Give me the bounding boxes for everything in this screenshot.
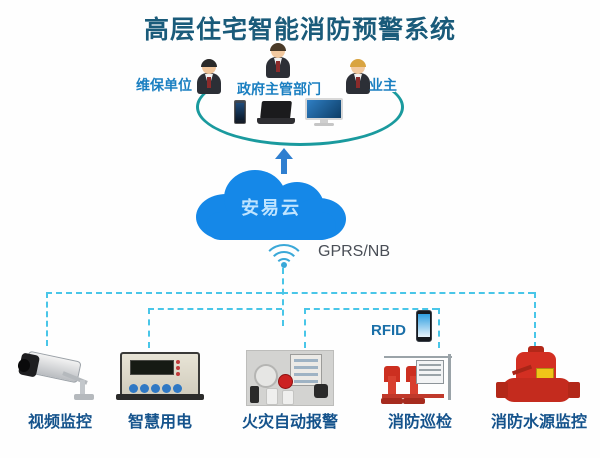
power-monitor-device-icon [112, 348, 208, 408]
bus-line-left-inner [148, 308, 282, 310]
cloud-label: 安易云 [196, 194, 346, 220]
wifi-signal-icon [262, 240, 306, 266]
stakeholder-label-maintenance: 维保单位 [136, 75, 192, 95]
subsystem-label-water-source: 消防水源监控 [478, 408, 600, 432]
desktop-monitor-icon [305, 98, 343, 126]
fire-alarm-panel-icon [242, 348, 338, 408]
subsystem-fire-inspection[interactable]: 消防巡检 [360, 346, 480, 432]
person-owner-icon [345, 60, 371, 94]
subsystem-label-inspection: 消防巡检 [360, 408, 480, 432]
branch-line-inspection-right [438, 308, 440, 348]
network-protocol-label: GPRS/NB [318, 243, 390, 261]
subsystem-fire-alarm[interactable]: 火灾自动报警 [215, 348, 365, 432]
smartphone-icon [234, 100, 246, 124]
bus-line-right [282, 292, 534, 294]
page-title: 高层住宅智能消防预警系统 [0, 10, 600, 46]
cctv-camera-icon [12, 348, 108, 408]
stakeholder-label-government: 政府主管部门 [237, 79, 321, 99]
laptop-icon [257, 101, 295, 125]
rfid-label: RFID [371, 322, 406, 339]
fire-pump-set-icon [372, 346, 468, 408]
subsystem-water-source-monitoring[interactable]: 消防水源监控 [478, 346, 600, 432]
trunk-line-vertical [282, 268, 284, 326]
subsystem-smart-electricity[interactable]: 智慧用电 [105, 348, 215, 432]
person-maintenance-icon [196, 60, 222, 94]
branch-line-water [534, 292, 536, 348]
diagram-canvas: 高层住宅智能消防预警系统 维保单位 政府主管部门 业主 安易云 GPRS/NB [0, 0, 600, 458]
stakeholder-label-owner: 业主 [369, 75, 397, 95]
person-government-icon [265, 44, 291, 78]
cloud-platform: 安易云 [196, 168, 346, 240]
subsystem-label-fire-alarm: 火灾自动报警 [215, 408, 365, 432]
fire-water-pump-icon [496, 346, 582, 408]
branch-line-inspection-left [304, 308, 306, 348]
subsystem-video-monitoring[interactable]: 视频监控 [0, 348, 120, 432]
subsystem-label-video: 视频监控 [0, 408, 120, 432]
branch-line-power [148, 308, 150, 348]
subsystem-label-electricity: 智慧用电 [105, 408, 215, 432]
rfid-smartphone-icon [416, 310, 432, 342]
bus-line-left [46, 292, 282, 294]
branch-line-video [46, 292, 48, 346]
